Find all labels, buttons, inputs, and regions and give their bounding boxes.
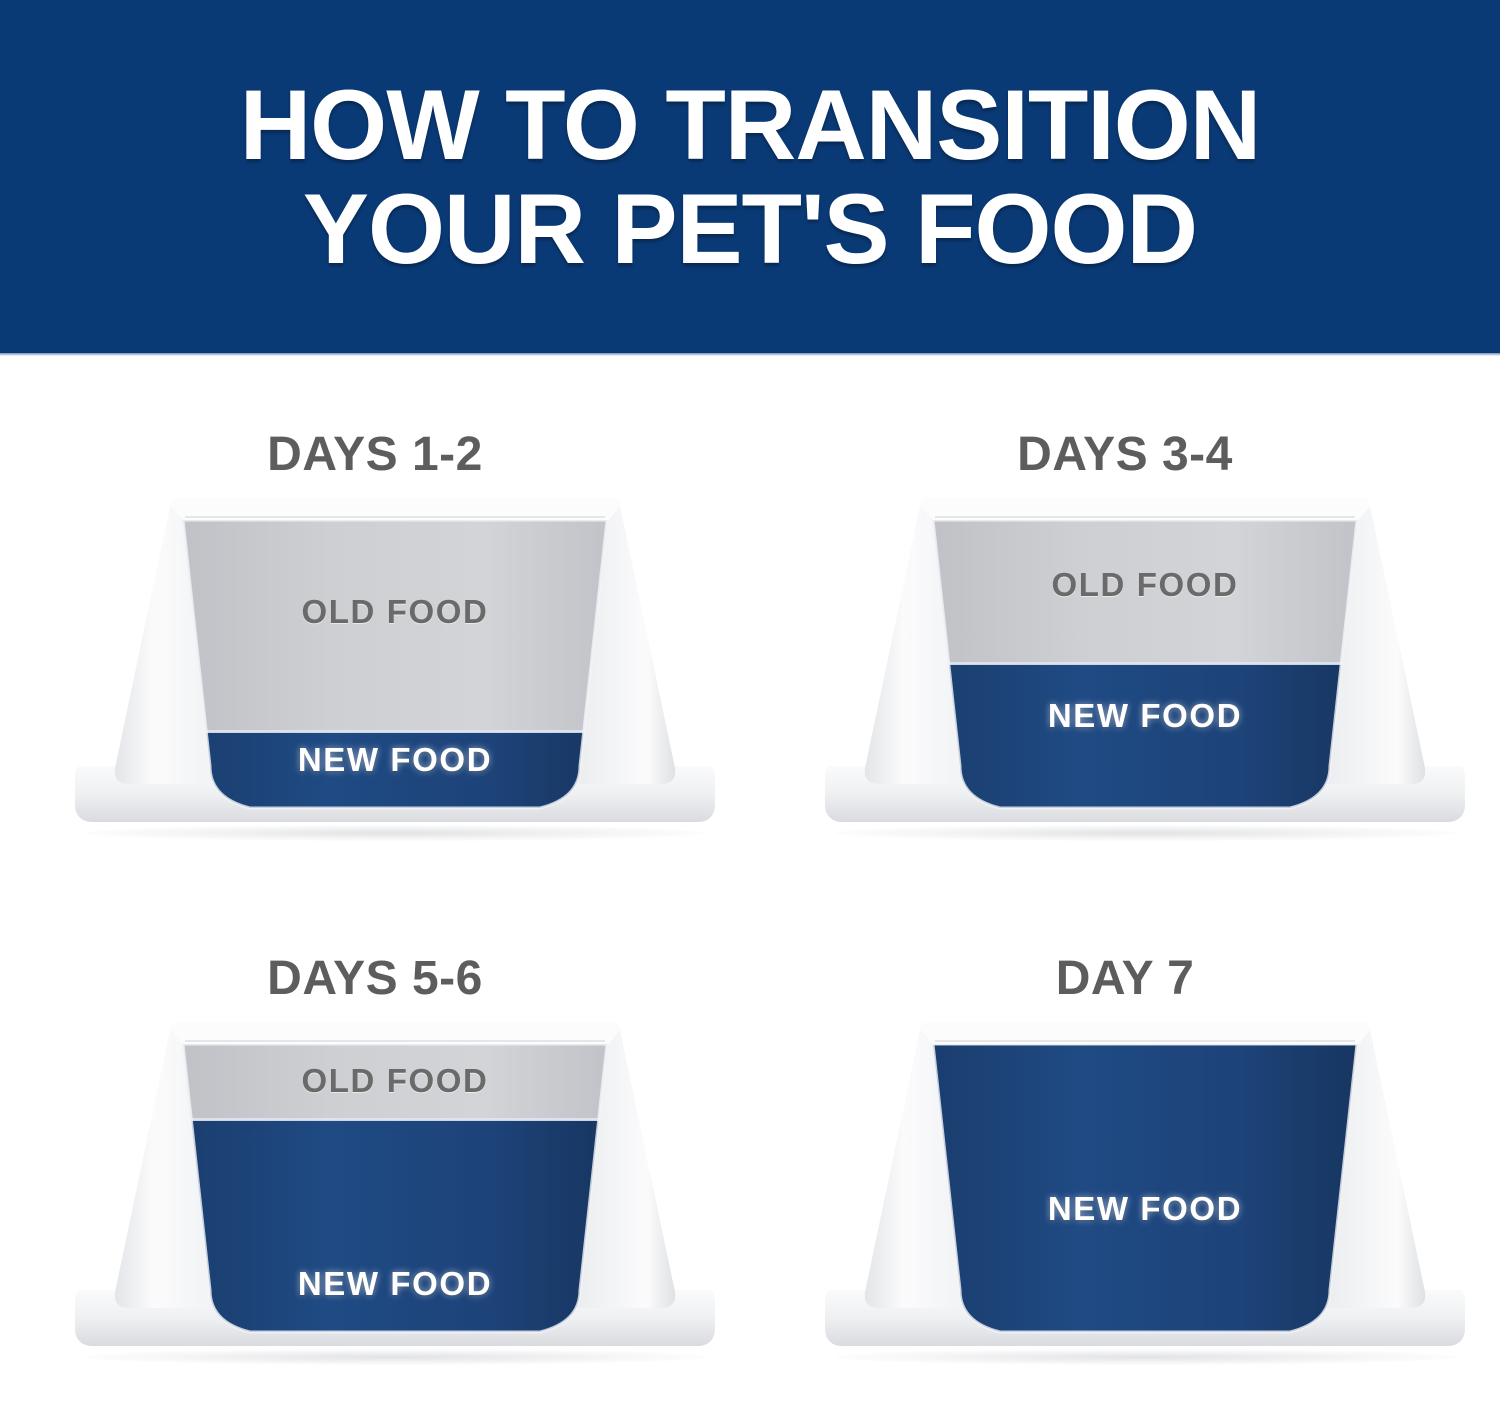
page-title-line-1: HOW TO TRANSITION: [240, 76, 1261, 173]
transition-steps-grid: DAYS 1-2: [0, 353, 1500, 1401]
bowl-illustration: [75, 1022, 715, 1367]
bowl-ground-shadow: [835, 1349, 1455, 1365]
food-bowl-days-1-2: OLD FOOD NEW FOOD: [75, 498, 715, 843]
page-header: HOW TO TRANSITION YOUR PET'S FOOD: [0, 0, 1500, 353]
step-title-days-3-4: DAYS 3-4: [750, 427, 1500, 482]
food-bowl-days-3-4: OLD FOOD NEW FOOD: [825, 498, 1465, 843]
bowl-ground-shadow: [835, 825, 1455, 841]
step-title-day-7: DAY 7: [750, 951, 1500, 1006]
step-panel-days-5-6: DAYS 5-6: [0, 877, 750, 1401]
bowl-illustration: [825, 498, 1465, 843]
food-bowl-days-5-6: OLD FOOD NEW FOOD: [75, 1022, 715, 1367]
step-panel-days-1-2: DAYS 1-2: [0, 353, 750, 877]
step-panel-day-7: DAY 7: [750, 877, 1500, 1401]
step-title-days-5-6: DAYS 5-6: [0, 951, 750, 1006]
food-bowl-day-7: NEW FOOD: [825, 1022, 1465, 1367]
bowl-ground-shadow: [85, 1349, 705, 1365]
bowl-ground-shadow: [85, 825, 705, 841]
step-panel-days-3-4: DAYS 3-4: [750, 353, 1500, 877]
bowl-illustration: [75, 498, 715, 843]
bowl-illustration: [825, 1022, 1465, 1367]
page-title-line-2: YOUR PET'S FOOD: [303, 180, 1197, 277]
step-title-days-1-2: DAYS 1-2: [0, 427, 750, 482]
